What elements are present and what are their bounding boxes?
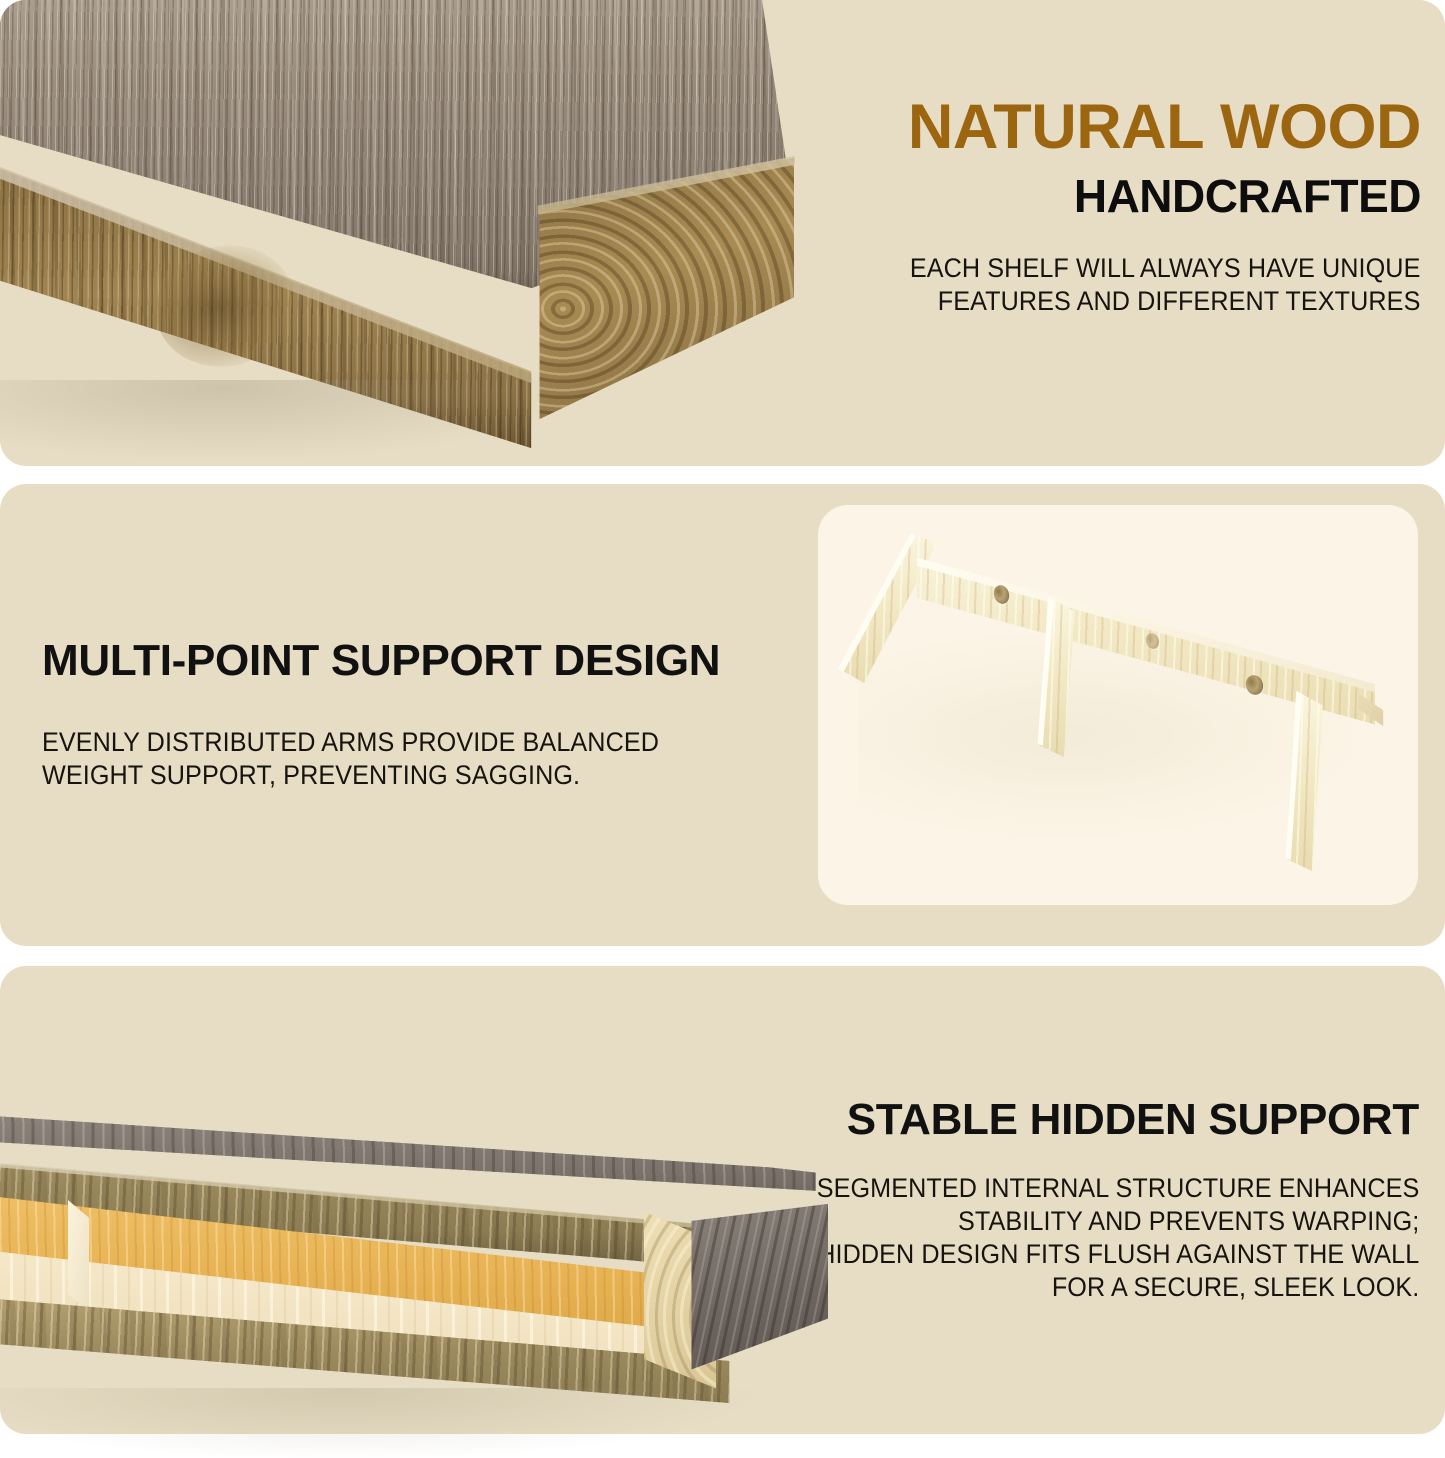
multi-point-title: MULTI-POINT SUPPORT DESIGN [42,639,720,683]
natural-wood-heading-group: NATURAL WOOD HANDCRAFTED [908,96,1421,219]
hidden-support-body-line-2: STABILITY AND PREVENTS WARPING; [816,1205,1419,1238]
hidden-support-title: STABLE HIDDEN SUPPORT [847,1098,1419,1142]
hidden-support-body-group: SEGMENTED INTERNAL STRUCTURE ENHANCES ST… [785,1172,1419,1304]
multi-point-body-line-2: WEIGHT SUPPORT, PREVENTING SAGGING. [42,759,659,792]
hidden-support-body-line-3: HIDDEN DESIGN FITS FLUSH AGAINST THE WAL… [816,1238,1419,1271]
multi-point-body-group: EVENLY DISTRIBUTED ARMS PROVIDE BALANCED… [42,726,691,792]
hidden-support-heading-group: STABLE HIDDEN SUPPORT [847,1098,1419,1142]
wood-shelf-corner-photo [0,0,820,466]
infographic-canvas: NATURAL WOOD HANDCRAFTED EACH SHELF WILL… [0,0,1445,1434]
shelf-drop-shadow [0,380,570,460]
panel-multi-point-support: MULTI-POINT SUPPORT DESIGN EVENLY DISTRI… [0,484,1445,946]
natural-wood-body-line-2: FEATURES AND DIFFERENT TEXTURES [909,285,1420,318]
multi-point-heading-group: MULTI-POINT SUPPORT DESIGN [42,639,720,683]
natural-wood-body-group: EACH SHELF WILL ALWAYS HAVE UNIQUE FEATU… [883,252,1420,318]
multi-point-body-line-1: EVENLY DISTRIBUTED ARMS PROVIDE BALANCED [42,726,659,759]
panel-natural-wood: NATURAL WOOD HANDCRAFTED EACH SHELF WILL… [0,0,1445,466]
wood-mounting-bracket-photo [818,505,1418,905]
natural-wood-body-line-1: EACH SHELF WILL ALWAYS HAVE UNIQUE [909,252,1420,285]
bracket-image-card [818,505,1418,905]
hidden-support-body-line-4: FOR A SECURE, SLEEK LOOK. [816,1271,1419,1304]
shelf-drop-shadow [0,1388,754,1458]
shelf-hollow-underside-photo [0,1092,844,1434]
natural-wood-title: NATURAL WOOD [908,96,1421,159]
hidden-support-body-line-1: SEGMENTED INTERNAL STRUCTURE ENHANCES [816,1172,1419,1205]
natural-wood-subtitle: HANDCRAFTED [908,173,1421,219]
